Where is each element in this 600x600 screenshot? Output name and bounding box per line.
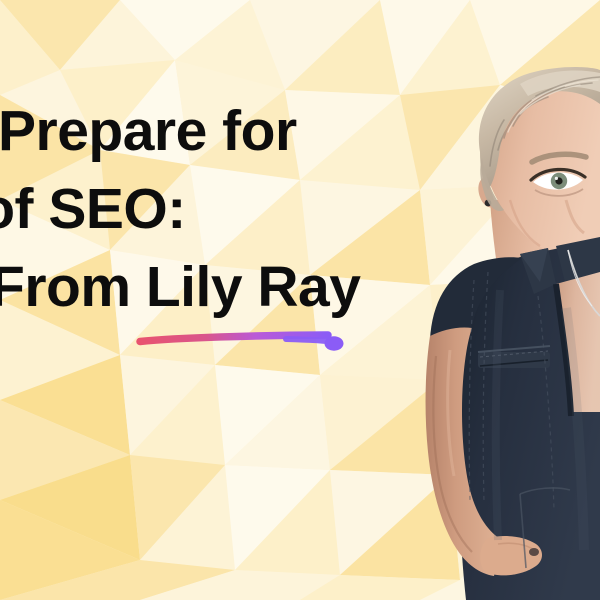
brush-stroke-underline-icon — [136, 326, 346, 356]
presenter-photo-lily-ray — [370, 40, 600, 600]
promo-banner: Prepare for re of SEO: From Lily Ray — [0, 0, 600, 600]
